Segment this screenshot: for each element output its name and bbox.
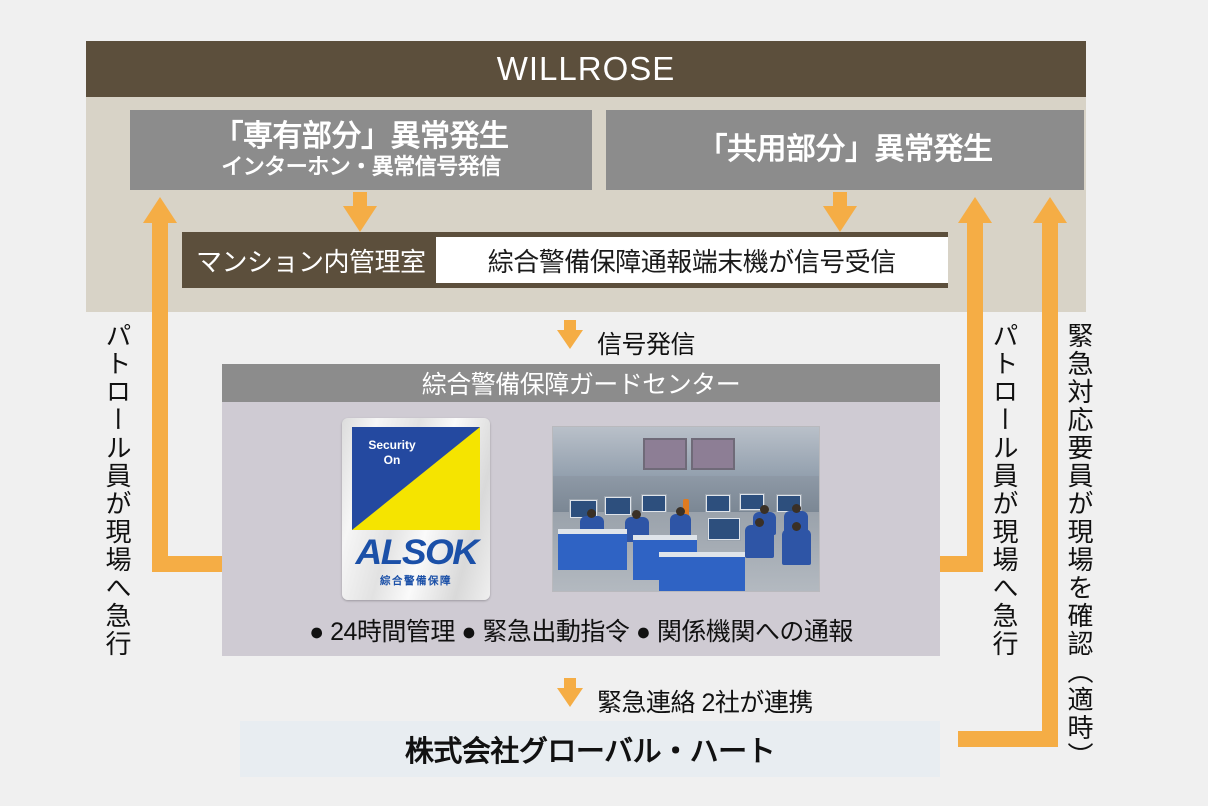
photo-monitor bbox=[705, 494, 731, 512]
alsok-jp-name: 綜合警備保障 bbox=[380, 573, 452, 588]
photo-operator bbox=[782, 529, 811, 565]
right-emergency-arrow-head bbox=[1033, 197, 1067, 223]
alsok-security-line1: Security bbox=[361, 438, 423, 453]
event-box-private-area: 「専有部分」異常発生 インターホン・異常信号発信 bbox=[130, 110, 592, 190]
management-room-label: マンション内管理室 bbox=[196, 242, 426, 279]
photo-monitor bbox=[707, 517, 741, 540]
left-patrol-connector-vertical bbox=[152, 222, 168, 572]
alsok-flag-icon: Security On bbox=[352, 427, 480, 530]
photo-console-desk-front bbox=[659, 552, 744, 592]
diagram-canvas: WILLROSE 「専有部分」異常発生 インターホン・異常信号発信 「共用部分」… bbox=[0, 0, 1208, 806]
guard-center-panel: 綜合警備保障ガードセンター Security On ALSOK 綜合警備保障 bbox=[222, 364, 940, 656]
photo-monitor bbox=[604, 496, 633, 516]
photo-wall-screen-2 bbox=[691, 438, 735, 470]
emergency-contact-label: 緊急連絡 2社が連携 bbox=[597, 683, 813, 719]
signal-arrow-head bbox=[557, 330, 583, 349]
left-patrol-connector-horizontal bbox=[152, 556, 222, 572]
right-patrol-connector-vertical bbox=[967, 222, 983, 572]
control-room-photo bbox=[552, 426, 820, 592]
arrow-common-down-head bbox=[823, 206, 857, 232]
page-title: WILLROSE bbox=[497, 50, 676, 88]
photo-operator bbox=[670, 514, 691, 537]
signal-flow-label: 信号発信 bbox=[597, 325, 695, 361]
photo-wall-screen-1 bbox=[643, 438, 687, 470]
event-box-common-area: 「共用部分」異常発生 bbox=[606, 110, 1084, 190]
global-heart-label: 株式会社グローバル・ハート bbox=[405, 728, 775, 770]
global-heart-box: 株式会社グローバル・ハート bbox=[240, 721, 940, 777]
photo-operator bbox=[745, 525, 774, 558]
photo-console-desk bbox=[558, 529, 627, 570]
right-patrol-caption: パトロール員が現場へ急行 bbox=[991, 322, 1017, 658]
photo-monitor bbox=[641, 494, 667, 512]
willrose-title-band: WILLROSE bbox=[86, 41, 1086, 97]
guard-center-services: ● 24時間管理 ● 緊急出動指令 ● 関係機関への通報 bbox=[309, 612, 853, 648]
emergency-contact-arrow-head bbox=[557, 688, 583, 707]
arrow-private-to-mgmt-head bbox=[343, 206, 377, 232]
guard-center-title: 綜合警備保障ガードセンター bbox=[222, 364, 940, 402]
event-private-title: 「専有部分」異常発生 bbox=[214, 121, 509, 153]
alsok-logo: Security On ALSOK 綜合警備保障 bbox=[342, 418, 490, 600]
right-emergency-caption: 緊急対応要員が現場を確認（適時） bbox=[1066, 322, 1092, 770]
event-private-subtitle: インターホン・異常信号発信 bbox=[221, 154, 501, 179]
alsok-security-on-text: Security On bbox=[361, 438, 423, 468]
left-patrol-caption: パトロール員が現場へ急行 bbox=[104, 322, 130, 658]
management-room-box: マンション内管理室 綜合警備保障通報端末機が信号受信 bbox=[182, 232, 948, 288]
guard-center-body: Security On ALSOK 綜合警備保障 bbox=[222, 402, 940, 656]
left-patrol-arrow-head bbox=[143, 197, 177, 223]
event-common-title: 「共用部分」異常発生 bbox=[698, 134, 993, 166]
right-patrol-arrow-head bbox=[958, 197, 992, 223]
alsok-wordmark: ALSOK bbox=[355, 535, 477, 570]
alsok-terminal-label: 綜合警備保障通報端末機が信号受信 bbox=[436, 237, 948, 283]
right-emergency-connector-horizontal bbox=[958, 731, 1058, 747]
guard-center-media: Security On ALSOK 綜合警備保障 bbox=[342, 418, 820, 600]
right-emergency-connector-vertical bbox=[1042, 222, 1058, 747]
alsok-security-line2: On bbox=[361, 453, 423, 468]
